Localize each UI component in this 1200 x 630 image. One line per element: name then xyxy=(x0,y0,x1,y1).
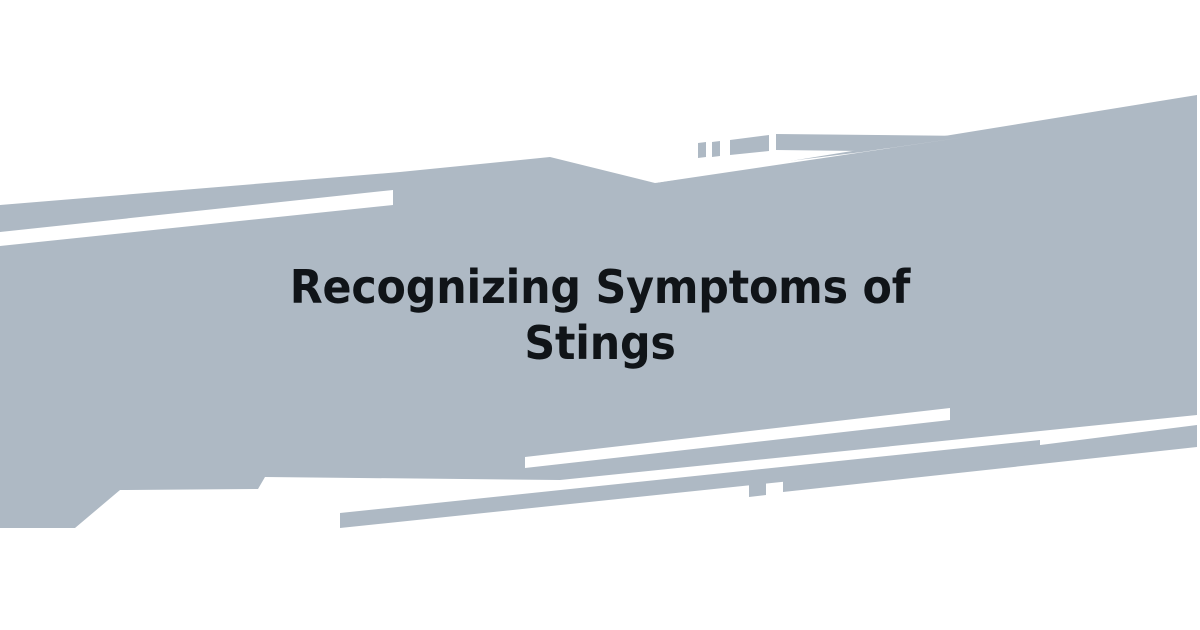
gray-dash-tick-1 xyxy=(698,142,706,158)
gray-shape-group xyxy=(0,95,1197,528)
decorative-background-graphic xyxy=(0,0,1200,630)
banner-card: Recognizing Symptoms of Stings xyxy=(0,0,1200,630)
gray-dash-bar-3 xyxy=(730,135,769,155)
gray-dash-tick-2 xyxy=(712,141,720,157)
